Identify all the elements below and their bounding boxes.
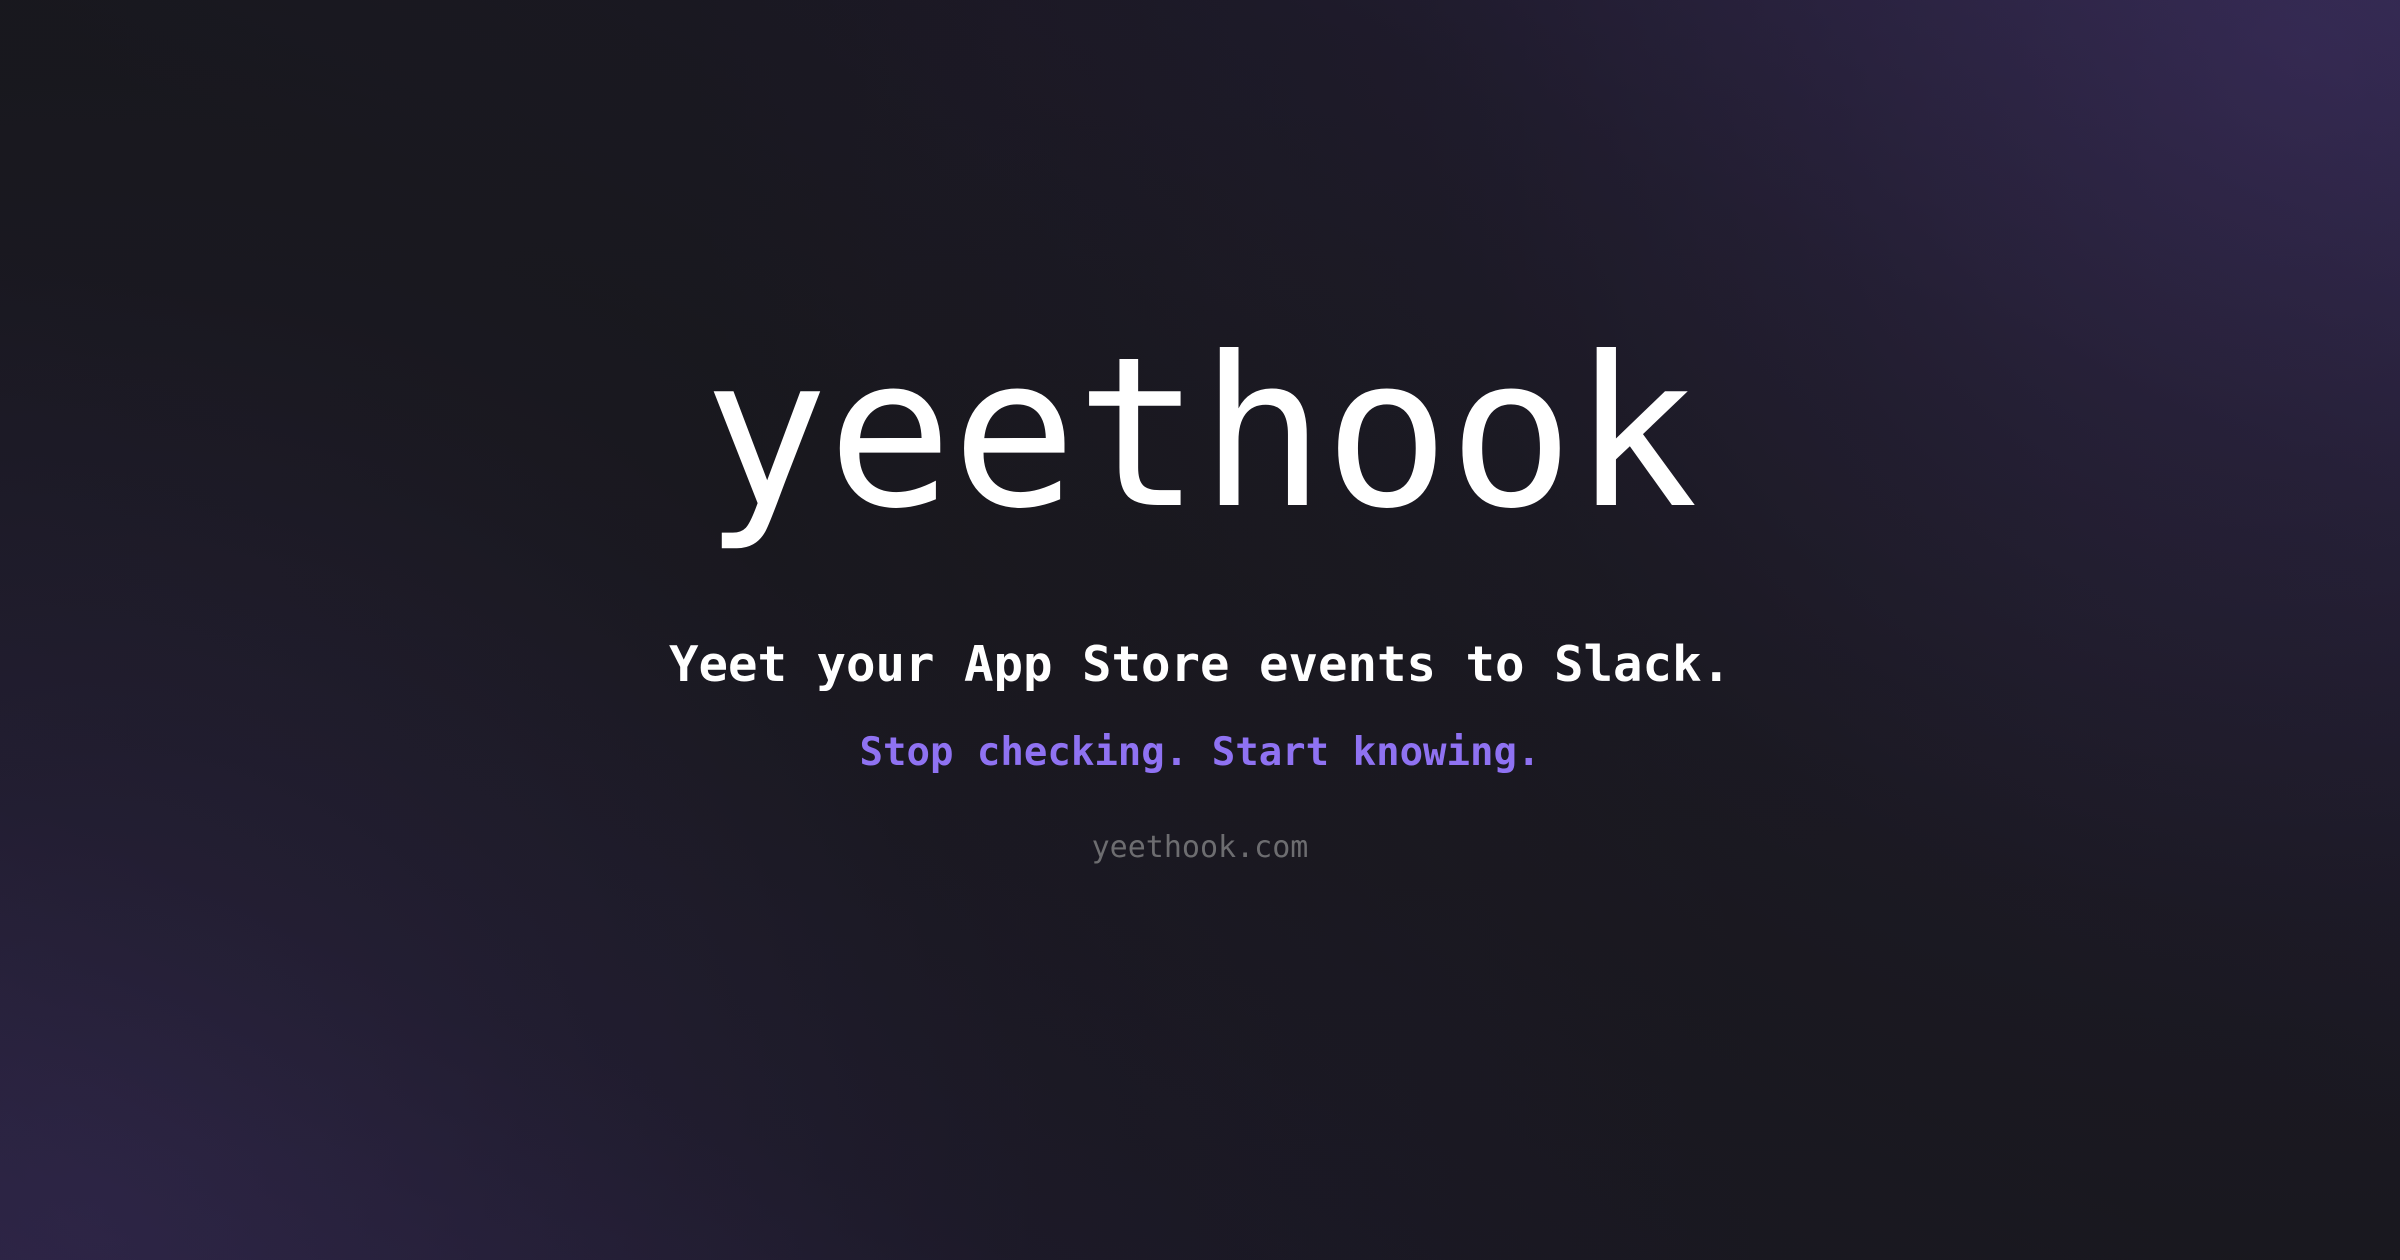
hero-content: yeethook Yeet your App Store events to S… bbox=[0, 0, 2400, 866]
site-url-label: yeethook.com bbox=[0, 777, 2400, 866]
hero-subtagline: Stop checking. Start knowing. bbox=[0, 695, 2400, 777]
brand-title: yeethook bbox=[0, 330, 2400, 538]
hero-splash-screen: yeethook Yeet your App Store events to S… bbox=[0, 0, 2400, 1260]
hero-tagline: Yeet your App Store events to Slack. bbox=[0, 538, 2400, 695]
